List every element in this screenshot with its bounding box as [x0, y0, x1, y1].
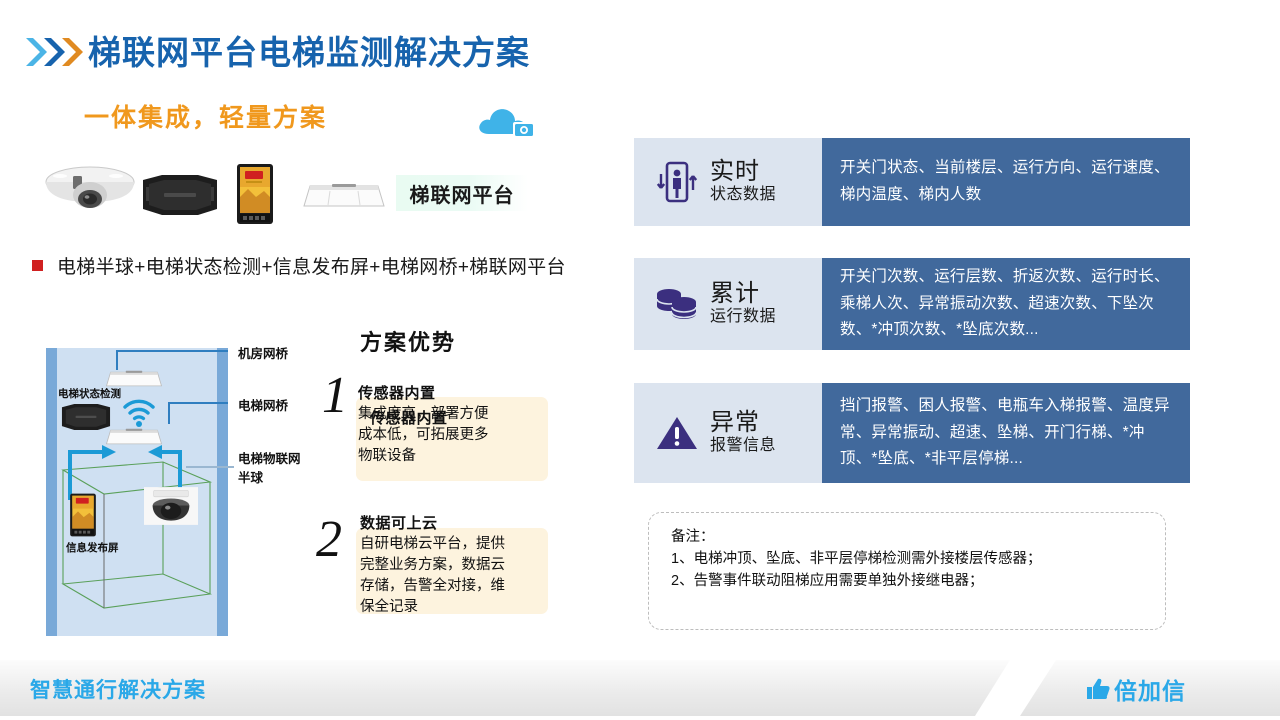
platform-tag: 梯联网平台	[396, 175, 528, 211]
card-realtime-subheading: 状态数据	[710, 185, 776, 206]
label-info-screen: 信息发布屏	[66, 540, 119, 555]
product-bullet-row: 电梯半球+电梯状态检测+信息发布屏+电梯网桥+梯联网平台	[32, 252, 566, 279]
card-cumulative-headings: 累计 运行数据	[710, 280, 776, 328]
advantage-body-1-line-2: 成本低，可拓展更多	[358, 425, 489, 446]
callout-elevator-bridge: 电梯网桥	[238, 395, 288, 414]
advantage-number-2: 2	[316, 514, 342, 566]
elevator-person-icon	[652, 160, 702, 204]
leader-line-dome	[186, 466, 234, 468]
card-abnormal-left: 异常 报警信息	[634, 383, 822, 483]
card-cumulative-content: 开关门次数、运行层数、折返次数、运行时长、乘梯人次、异常振动次数、超速次数、下坠…	[822, 258, 1190, 350]
card-realtime-heading: 实时	[710, 158, 776, 186]
note-line-2: 2、告警事件联动阻梯应用需要单独外接继电器；	[671, 571, 1165, 593]
network-bridge-icon	[300, 180, 388, 212]
wifi-icon	[122, 398, 156, 428]
advantage-number-1: 1	[322, 370, 348, 422]
bullet-square-icon	[32, 260, 43, 271]
advantages-title: 方案优势	[360, 325, 456, 357]
cab-info-display-icon	[68, 492, 98, 538]
advantage-body-2-line-2: 完整业务方案，数据云	[360, 555, 505, 576]
product-bullet-text: 电梯半球+电梯状态检测+信息发布屏+电梯网桥+梯联网平台	[57, 252, 566, 279]
note-title: 备注：	[671, 527, 1165, 549]
advantage-body-2-line-1: 自研电梯云平台，提供	[360, 534, 505, 555]
card-realtime-headings: 实时 状态数据	[710, 158, 776, 206]
leader-line-elevator-bridge-h	[168, 402, 228, 404]
card-abnormal-subheading: 报警信息	[710, 436, 776, 457]
card-cumulative-heading: 累计	[710, 280, 776, 308]
callout-machine-room-bridge: 机房网桥	[238, 343, 288, 362]
advantage-body-1-line-3: 物联设备	[358, 446, 489, 467]
cloud-camera-icon	[475, 103, 541, 143]
advantage-body-2-line-4: 保全记录	[360, 597, 505, 618]
triple-chevron-icon	[24, 32, 86, 72]
platform-tag-label: 梯联网平台	[410, 179, 515, 208]
note-line-1: 1、电梯冲顶、坠底、非平层停梯检测需外接楼层传感器；	[671, 549, 1165, 571]
footer: 智慧通行解决方案 倍加信	[0, 660, 1280, 720]
card-cumulative-subheading: 运行数据	[710, 307, 776, 328]
status-detector-icon	[60, 402, 112, 432]
warning-triangle-icon	[652, 412, 702, 454]
brand: 倍加信	[1085, 672, 1186, 706]
page-subtitle: 一体集成，轻量方案	[84, 98, 327, 134]
card-realtime: 实时 状态数据 开关门状态、当前楼层、运行方向、运行速度、梯内温度、梯内人数	[634, 138, 1190, 226]
leader-line-elevator-bridge-v	[168, 402, 170, 424]
label-status-detector: 电梯状态检测	[58, 386, 121, 401]
sensor-box-icon	[140, 172, 220, 218]
cab-dome-camera-icon	[144, 486, 198, 526]
card-realtime-content: 开关门状态、当前楼层、运行方向、运行速度、梯内温度、梯内人数	[822, 138, 1190, 226]
advantage-heading-2: 数据可上云	[360, 512, 438, 533]
footer-left-text: 智慧通行解决方案	[30, 674, 206, 704]
leader-line-machine-room	[116, 350, 118, 370]
leader-line-machine-room-h	[116, 350, 228, 352]
shaft-wall-right	[217, 348, 228, 636]
dome-camera-icon	[40, 162, 140, 218]
advantage-body-2: 自研电梯云平台，提供 完整业务方案，数据云 存储，告警全对接，维 保全记录	[360, 534, 505, 619]
brand-name: 倍加信	[1114, 672, 1186, 706]
card-abnormal-heading: 异常	[710, 409, 776, 437]
note-box: 备注： 1、电梯冲顶、坠底、非平层停梯检测需外接楼层传感器； 2、告警事件联动阻…	[648, 512, 1166, 630]
info-display-icon	[234, 163, 276, 225]
card-realtime-left: 实时 状态数据	[634, 138, 822, 226]
advantage-body-1: 集成度高，部署方便 成本低，可拓展更多 物联设备	[358, 404, 489, 467]
database-stack-icon	[652, 283, 702, 325]
slide-root: 梯联网平台电梯监测解决方案 一体集成，轻量方案	[0, 0, 1280, 720]
card-abnormal: 异常 报警信息 挡门报警、困人报警、电瓶车入梯报警、温度异常、异常振动、超速、坠…	[634, 383, 1190, 483]
card-abnormal-content: 挡门报警、困人报警、电瓶车入梯报警、温度异常、异常振动、超速、坠梯、开门行梯、*…	[822, 383, 1190, 483]
page-title: 梯联网平台电梯监测解决方案	[88, 26, 530, 74]
thumbs-up-icon	[1085, 677, 1111, 701]
card-abnormal-headings: 异常 报警信息	[710, 409, 776, 457]
card-cumulative: 累计 运行数据 开关门次数、运行层数、折返次数、运行时长、乘梯人次、异常振动次数…	[634, 258, 1190, 350]
shaft-wall-left	[46, 348, 57, 636]
callout-elevator-iot-dome-line1: 电梯物联网	[238, 448, 301, 467]
advantage-body-1-line-1: 集成度高，部署方便	[358, 404, 489, 425]
elevator-diagram: 电梯状态检测	[46, 348, 228, 636]
advantage-heading-1-overlay: 传感器内置	[358, 382, 436, 403]
callout-elevator-iot-dome-line2: 半球	[238, 467, 263, 486]
card-cumulative-left: 累计 运行数据	[634, 258, 822, 350]
advantage-body-2-line-3: 存储，告警全对接，维	[360, 576, 505, 597]
